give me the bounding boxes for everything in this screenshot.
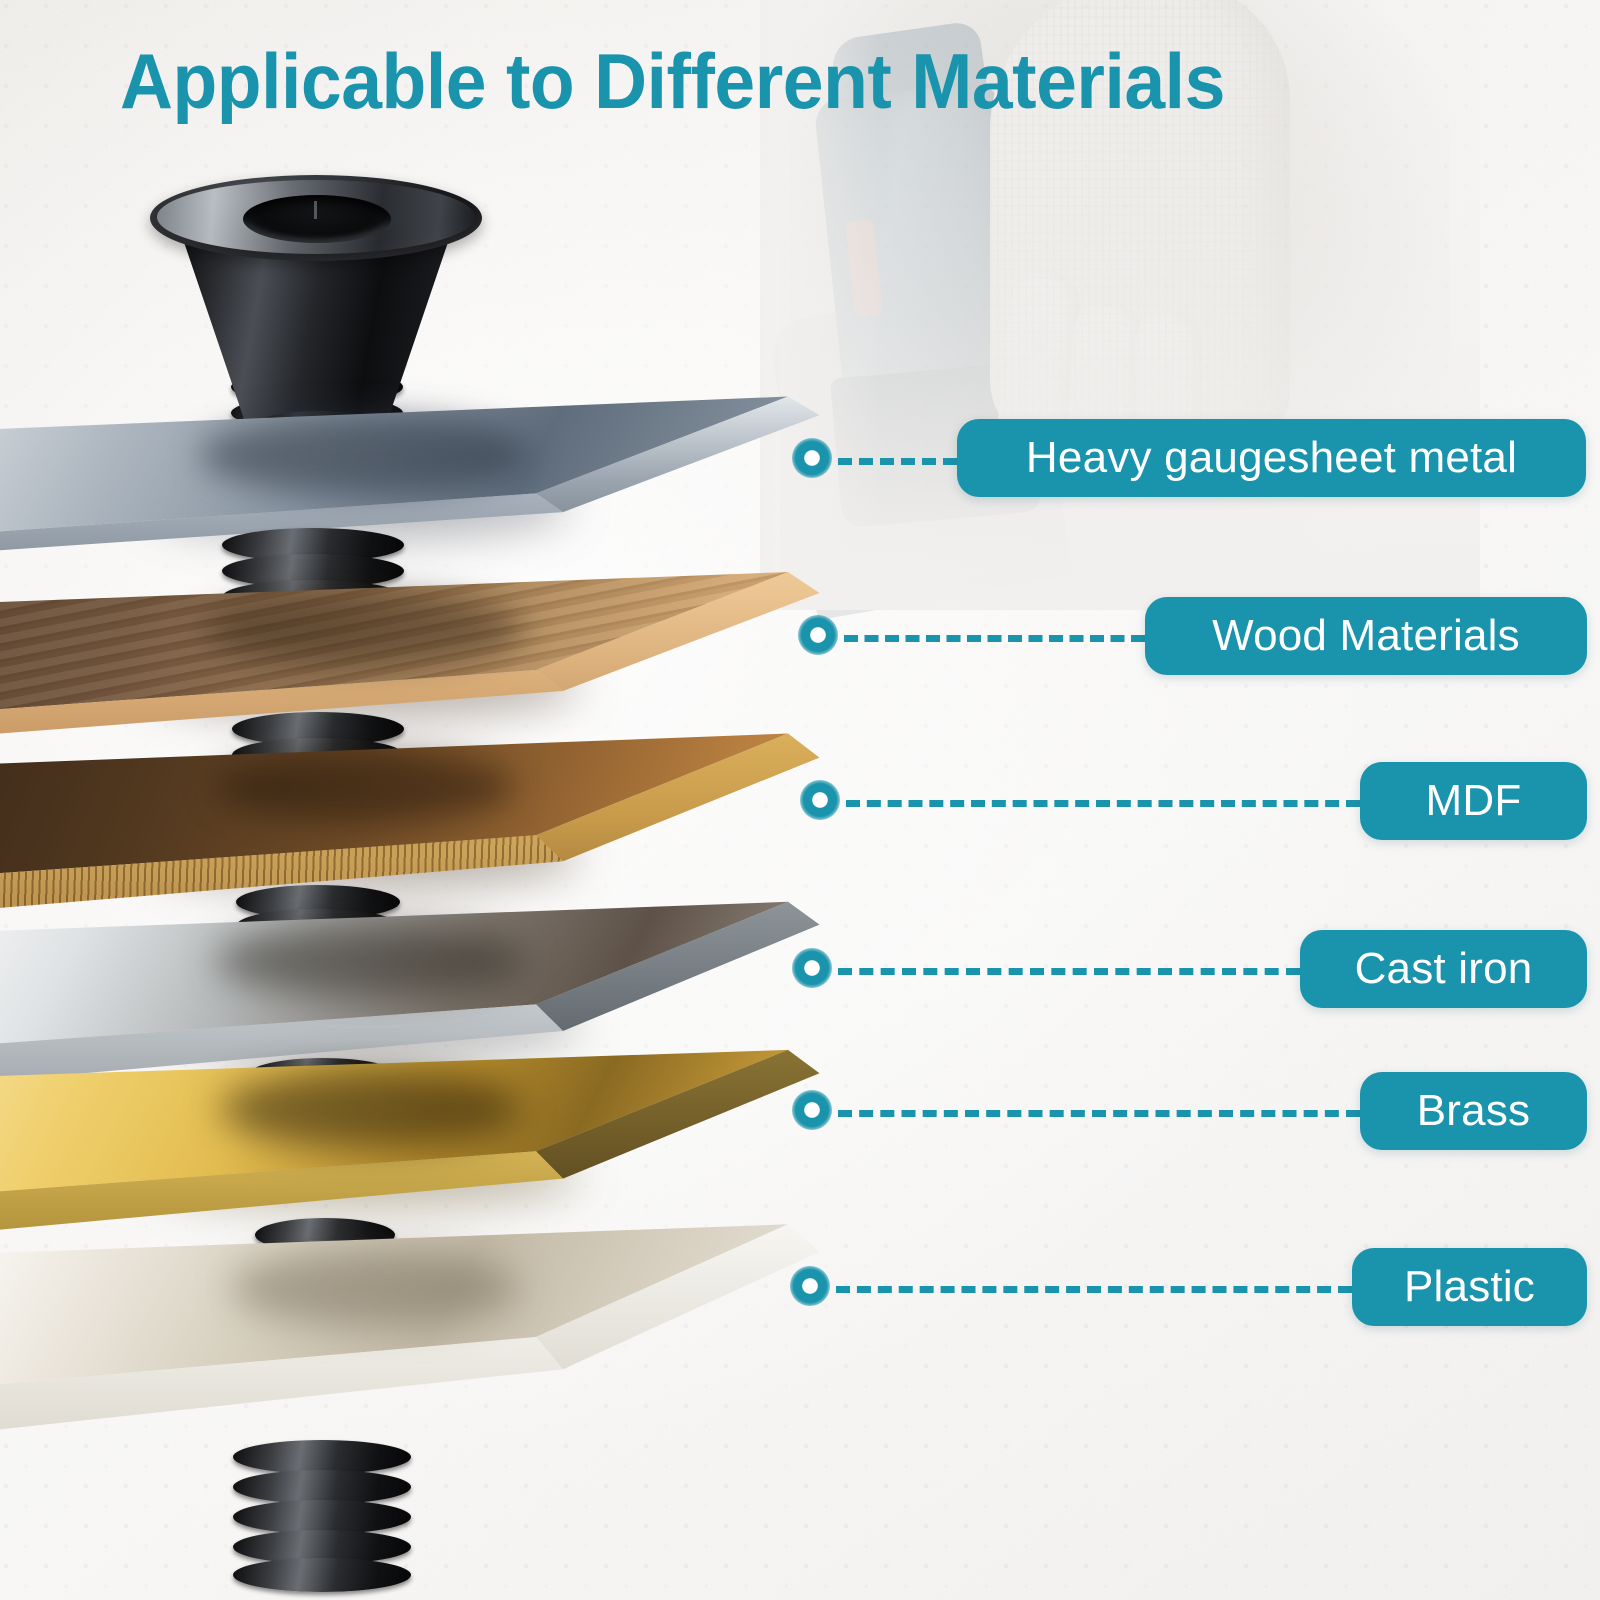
- infographic-canvas: Heavy gaugesheet metalWood MaterialsMDFC…: [0, 0, 1600, 1600]
- screw-contact-shadow: [205, 592, 525, 667]
- material-label-sheet-metal[interactable]: Heavy gaugesheet metal: [957, 419, 1586, 497]
- screw-contact-shadow: [215, 925, 525, 997]
- callout-node-sheet-metal[interactable]: [792, 438, 832, 478]
- callout-node-cast-iron[interactable]: [792, 948, 832, 988]
- callout-node-brass[interactable]: [792, 1090, 832, 1130]
- material-label-mdf[interactable]: MDF: [1360, 762, 1587, 840]
- callout-line-plastic: [836, 1286, 1352, 1293]
- callout-line-sheet-metal: [838, 458, 957, 465]
- callout-line-wood: [844, 635, 1145, 642]
- screw-contact-shadow: [230, 1250, 520, 1326]
- callout-line-cast-iron: [838, 968, 1300, 975]
- callout-line-mdf: [846, 800, 1360, 807]
- material-label-plastic[interactable]: Plastic: [1352, 1248, 1587, 1326]
- page-title: Applicable to Different Materials: [120, 42, 1398, 120]
- screw-contact-shadow: [215, 752, 515, 822]
- material-label-wood[interactable]: Wood Materials: [1145, 597, 1587, 675]
- material-label-brass[interactable]: Brass: [1360, 1072, 1587, 1150]
- material-label-cast-iron[interactable]: Cast iron: [1300, 930, 1587, 1008]
- screw-thread-bottom: [233, 1440, 411, 1600]
- screw-contact-shadow: [200, 415, 530, 495]
- screw-contact-shadow: [220, 1070, 520, 1148]
- callout-line-brass: [838, 1110, 1360, 1117]
- hex-socket-icon: [243, 195, 391, 243]
- callout-node-plastic[interactable]: [790, 1266, 830, 1306]
- callout-node-mdf[interactable]: [800, 780, 840, 820]
- callout-node-wood[interactable]: [798, 615, 838, 655]
